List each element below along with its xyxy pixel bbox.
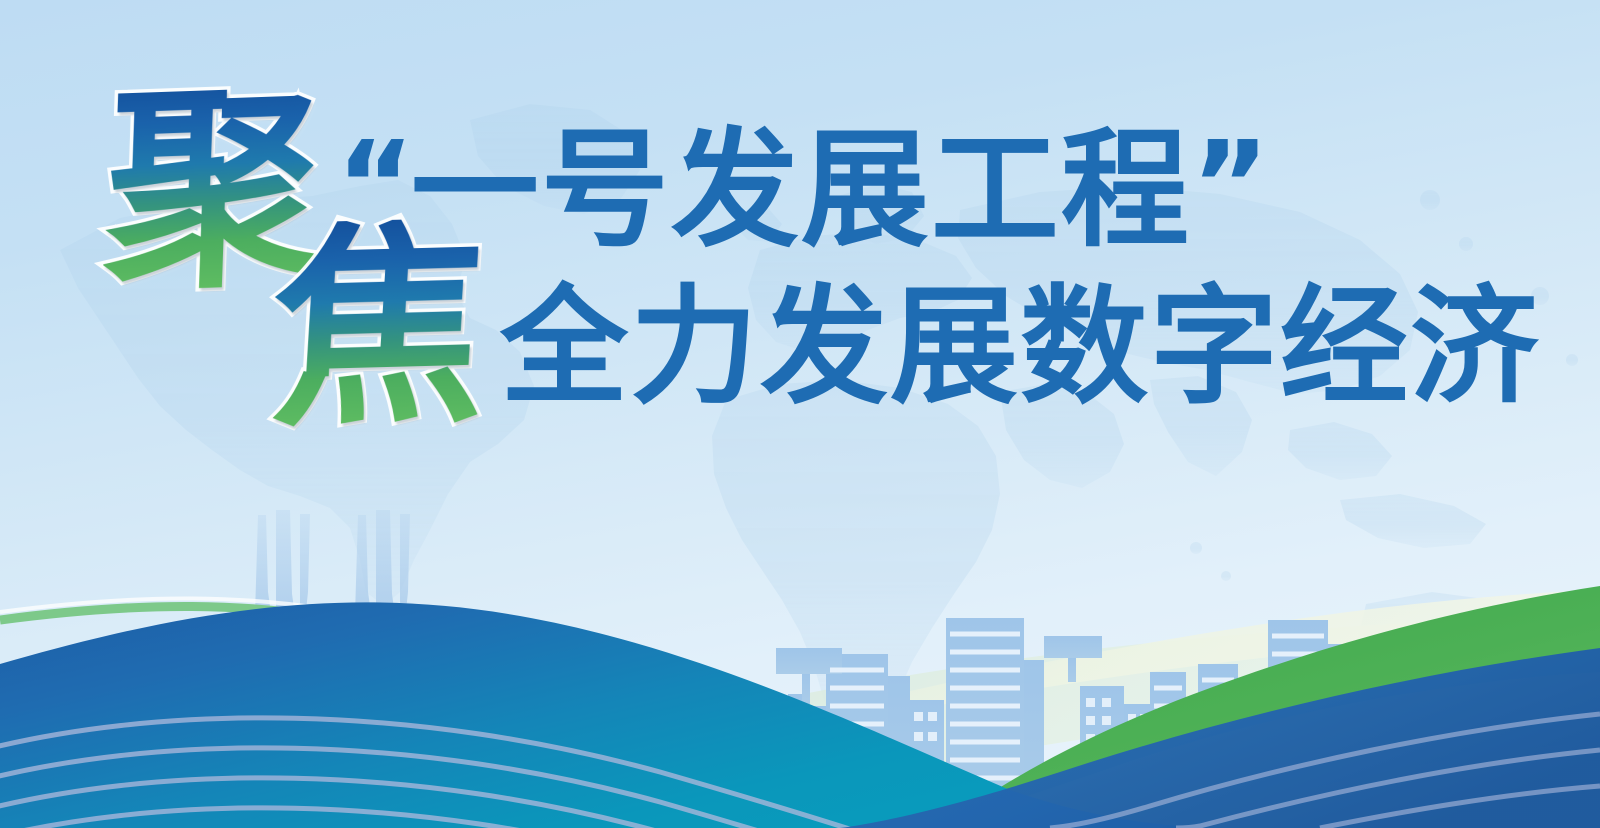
city-skyline xyxy=(556,618,1494,818)
pale-ridge-band xyxy=(470,612,1600,820)
quote-open: “ xyxy=(336,117,411,256)
headline-line-1: “一号发展工程” xyxy=(336,126,1516,257)
scenery-illustration xyxy=(0,0,1600,828)
calligraphy-ju: 聚 xyxy=(102,78,325,300)
hill-green-light xyxy=(930,672,1600,828)
wedge-arc-lines xyxy=(1050,714,1600,828)
headline-line-2: 全力发展数字经济 xyxy=(500,283,1516,414)
world-map-watermark xyxy=(0,0,1600,828)
twin-towers-group xyxy=(254,510,410,760)
cream-ridge-band xyxy=(880,590,1600,716)
building-window-squares xyxy=(560,690,1373,761)
hill-green-light-2 xyxy=(1164,742,1600,828)
headline-block: “一号发展工程” 全力发展数字经济 xyxy=(336,126,1516,413)
dark-blue-wedge xyxy=(840,648,1600,828)
teal-blue-wave xyxy=(0,602,1240,828)
hill-green-dark xyxy=(940,586,1600,828)
building-windows xyxy=(606,634,1492,796)
quote-close: ” xyxy=(1191,117,1266,256)
calligraphy-jiao: 焦 xyxy=(265,217,494,438)
calligraphy-ju-outline: 聚 xyxy=(102,78,325,300)
headline-line-1-text: 一号发展工程 xyxy=(411,119,1191,262)
green-ribbon-curve-highlight xyxy=(0,598,1000,824)
green-ribbon-curve xyxy=(0,606,1000,828)
digital-economy-banner: 聚 聚 焦 焦 “一号发展工程” 全力发展数字经济 xyxy=(0,0,1600,828)
concentric-arc-lines xyxy=(0,718,1060,828)
calligraphy-block: 聚 聚 焦 焦 xyxy=(96,72,516,472)
calligraphy-jiao-outline: 焦 xyxy=(265,217,494,438)
